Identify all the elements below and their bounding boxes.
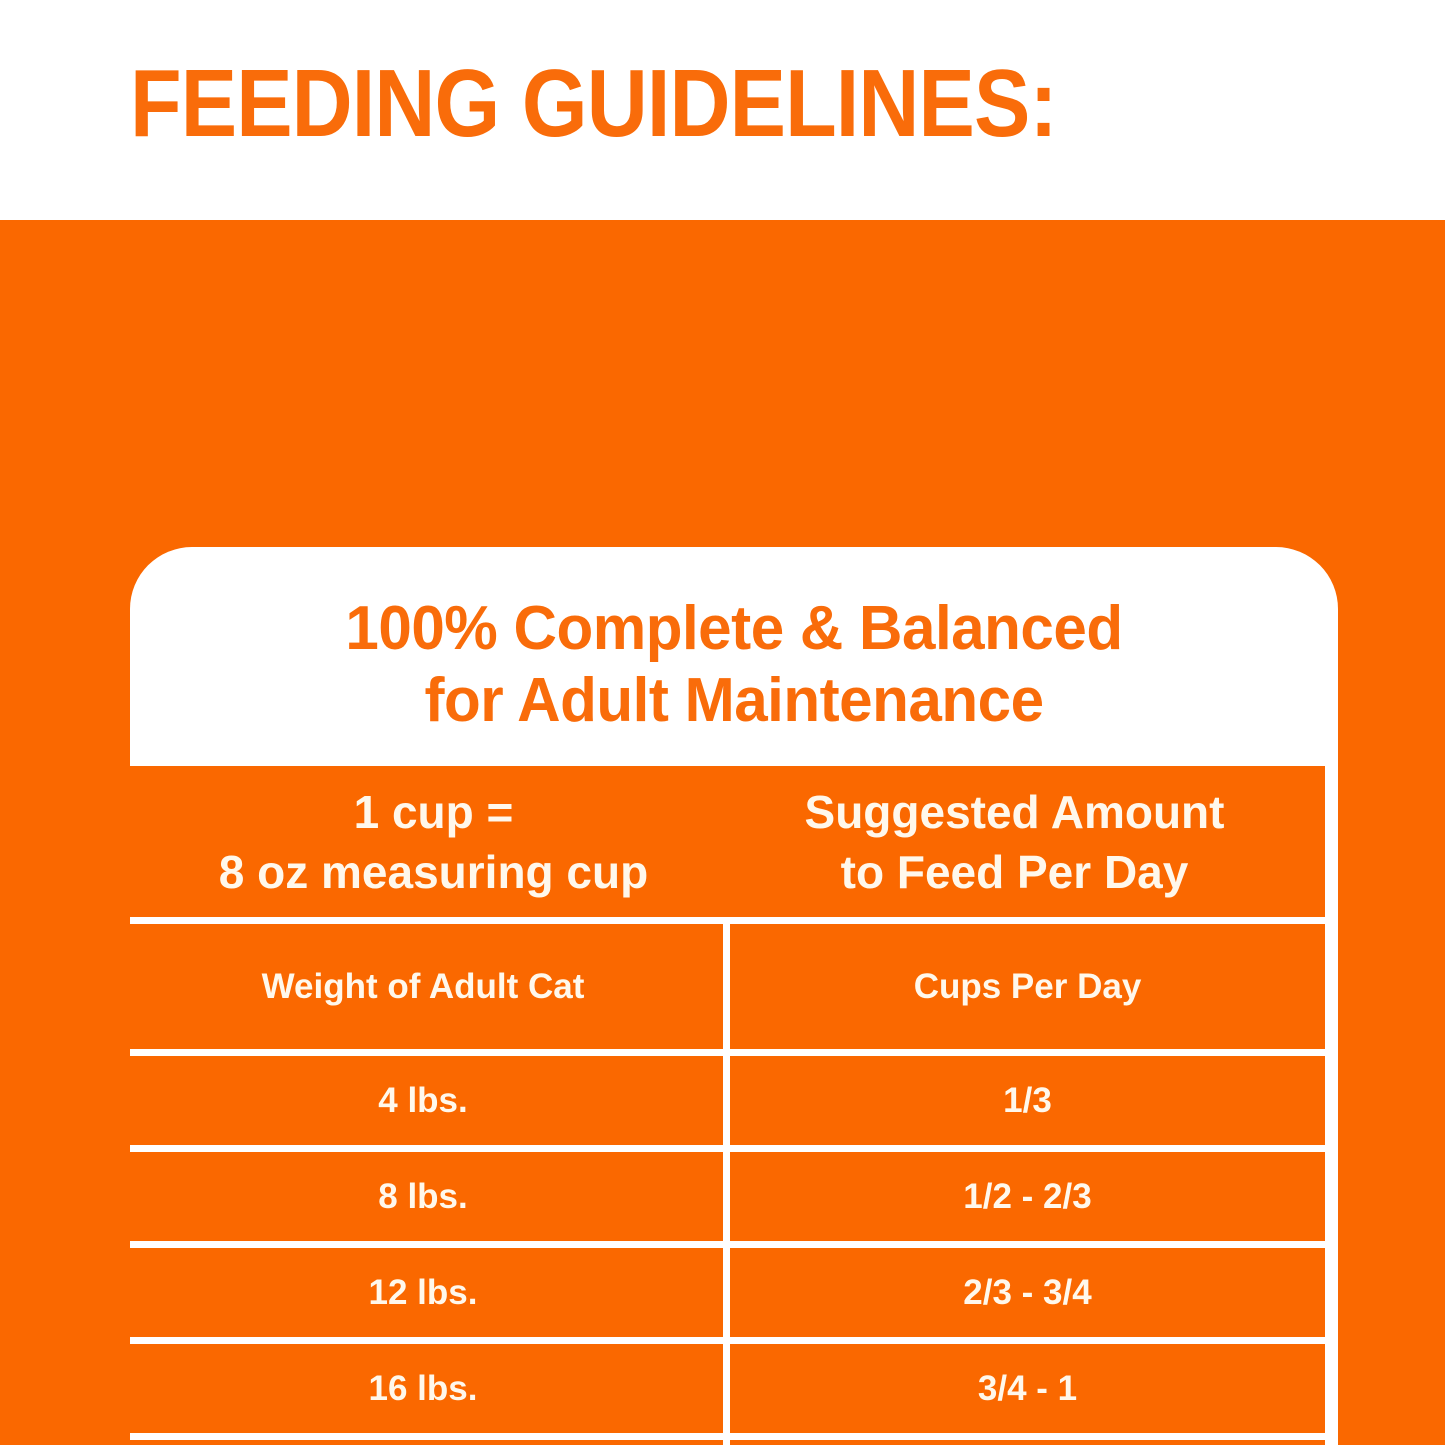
- cell-cups: 3/4 - 1: [723, 1344, 1325, 1440]
- card-heading: 100% Complete & Balanced for Adult Maint…: [130, 593, 1338, 737]
- table-header-main-row: 1 cup = 8 oz measuring cup Suggested Amo…: [130, 766, 1325, 924]
- cell-weight: 4 lbs.: [130, 1056, 723, 1152]
- table-row: 16 lbs. 3/4 - 1: [130, 1344, 1325, 1440]
- cup-definition-line-1: 1 cup =: [143, 782, 724, 842]
- page-title: FEEDING GUIDELINES:: [130, 52, 1057, 156]
- card-heading-line-1: 100% Complete & Balanced: [148, 593, 1320, 665]
- cell-cups: 1/3: [723, 1056, 1325, 1152]
- suggested-amount-line-1: Suggested Amount: [724, 782, 1305, 842]
- cell-cups: 1 - 1 1/4: [723, 1440, 1325, 1445]
- cell-cups: 2/3 - 3/4: [723, 1248, 1325, 1344]
- cup-definition-header: 1 cup = 8 oz measuring cup: [143, 782, 724, 902]
- table-column-header-row: Weight of Adult Cat Cups Per Day: [130, 924, 1325, 1056]
- table-row: 4 lbs. 1/3: [130, 1056, 1325, 1152]
- guidelines-card: 100% Complete & Balanced for Adult Maint…: [130, 547, 1338, 1445]
- header-band: FEEDING GUIDELINES:: [0, 0, 1445, 220]
- suggested-amount-header: Suggested Amount to Feed Per Day: [724, 782, 1305, 902]
- column-header-cups: Cups Per Day: [723, 924, 1325, 1056]
- column-header-weight: Weight of Adult Cat: [130, 924, 723, 1056]
- cup-definition-line-2: 8 oz measuring cup: [143, 842, 724, 902]
- table-row: 12 lbs. 2/3 - 3/4: [130, 1248, 1325, 1344]
- feeding-table: 1 cup = 8 oz measuring cup Suggested Amo…: [130, 766, 1325, 1445]
- card-heading-line-2: for Adult Maintenance: [148, 665, 1320, 737]
- table-header-main-cell: 1 cup = 8 oz measuring cup Suggested Amo…: [130, 766, 1325, 924]
- table-row: 8 lbs. 1/2 - 2/3: [130, 1152, 1325, 1248]
- cell-weight: 22 lbs.: [130, 1440, 723, 1445]
- cell-weight: 12 lbs.: [130, 1248, 723, 1344]
- suggested-amount-line-2: to Feed Per Day: [724, 842, 1305, 902]
- table-row: 22 lbs. 1 - 1 1/4: [130, 1440, 1325, 1445]
- cell-weight: 16 lbs.: [130, 1344, 723, 1440]
- feeding-guidelines-page: FEEDING GUIDELINES: 100% Complete & Bala…: [0, 0, 1445, 1445]
- cell-weight: 8 lbs.: [130, 1152, 723, 1248]
- cell-cups: 1/2 - 2/3: [723, 1152, 1325, 1248]
- orange-body-panel: 100% Complete & Balanced for Adult Maint…: [0, 220, 1445, 1445]
